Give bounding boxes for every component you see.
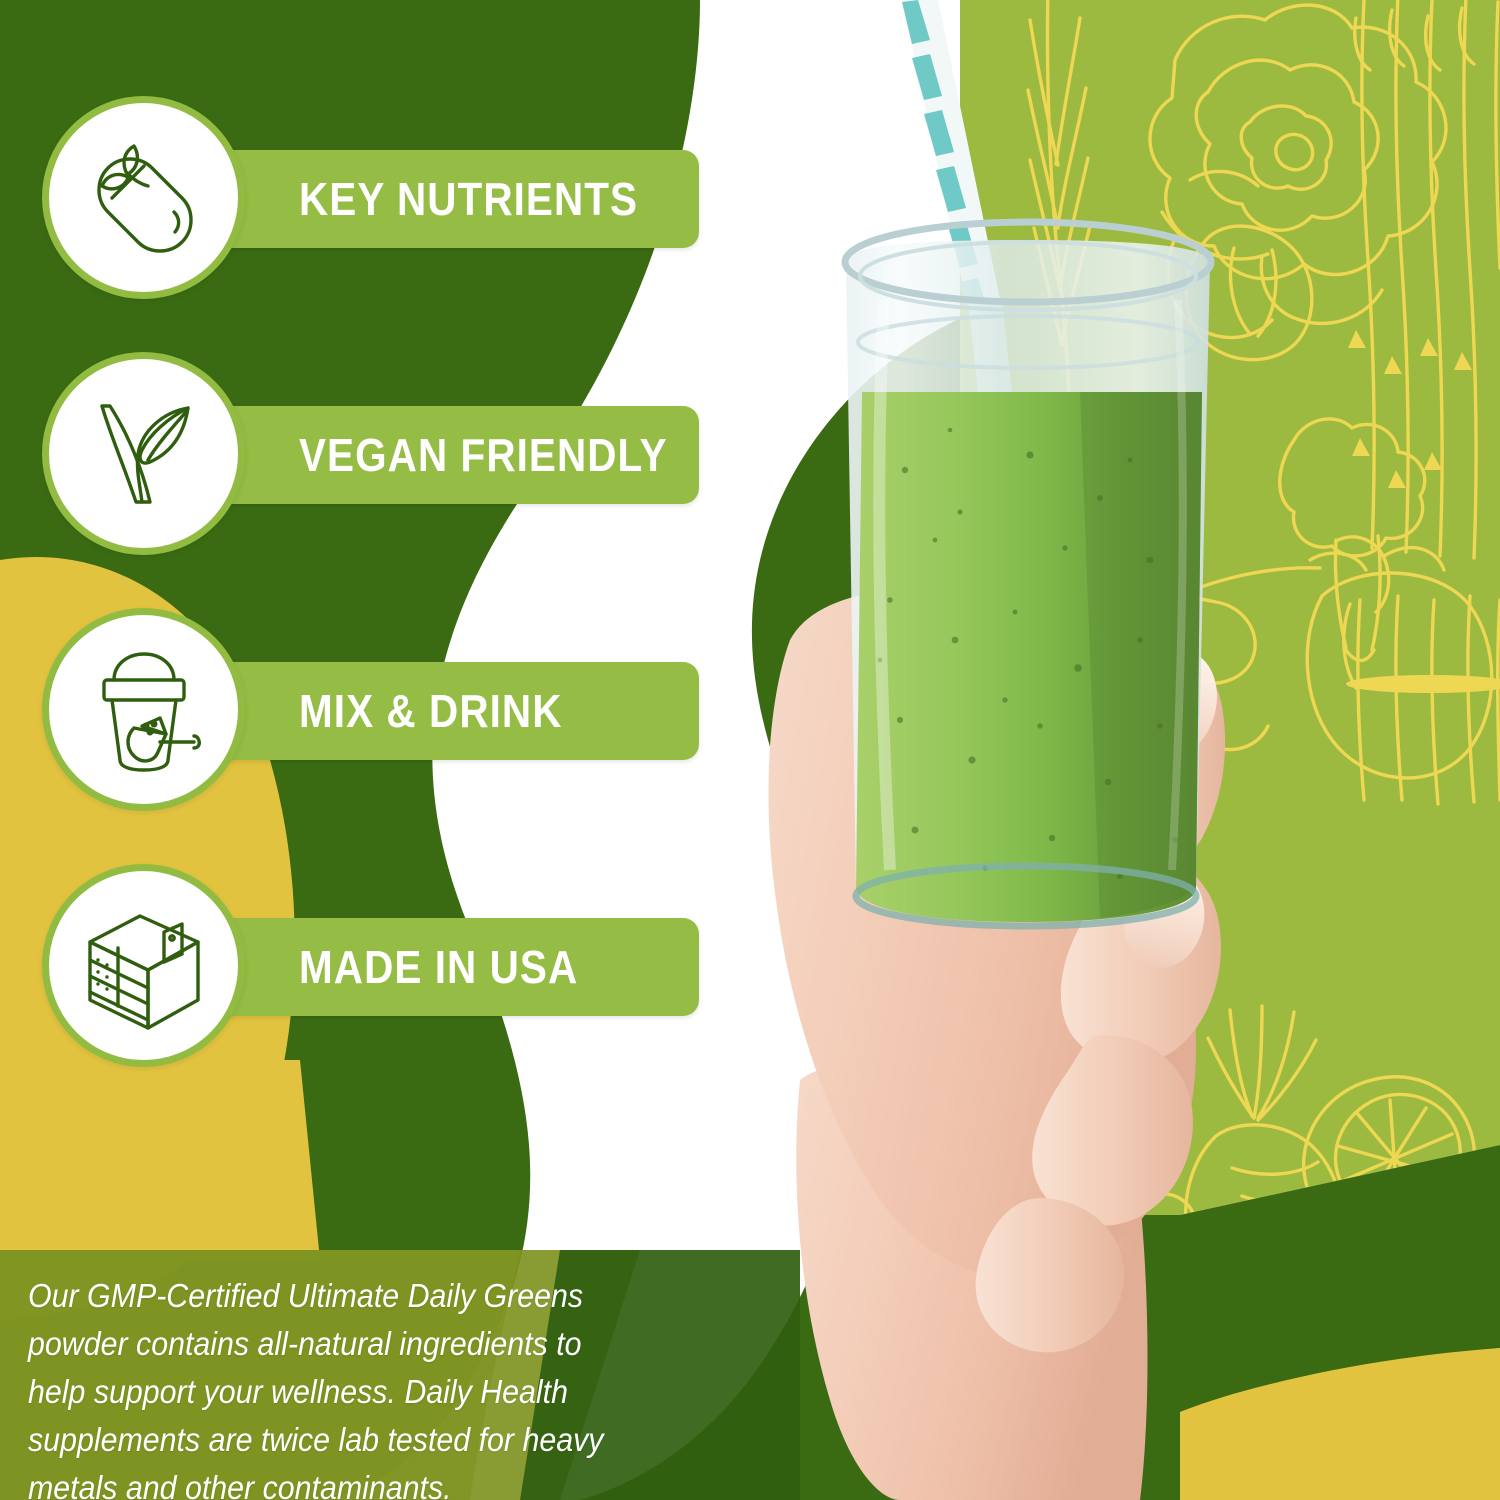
feature-pill-vegan-friendly[interactable]: VEGAN FRIENDLY [187,406,699,504]
shaker-cup-scoop-icon [80,646,208,774]
capsule-sprout-icon [80,134,208,262]
feature-row-vegan-friendly[interactable]: VEGAN FRIENDLY [42,352,662,558]
product-infographic: KEY NUTRIENTS VEGAN FRIENDLY [0,0,1500,1500]
feature-label-vegan-friendly: VEGAN FRIENDLY [299,428,668,482]
feature-row-mix-and-drink[interactable]: MIX & DRINK [42,608,662,814]
feature-icon-circle-made-in-usa[interactable] [42,864,245,1067]
feature-icon-circle-mix-and-drink[interactable] [42,608,245,811]
feature-pill-made-in-usa[interactable]: MADE IN USA [187,918,699,1016]
feature-row-key-nutrients[interactable]: KEY NUTRIENTS [42,96,662,302]
feature-label-made-in-usa: MADE IN USA [299,940,578,994]
leaf-sprout-v-icon [80,390,208,518]
usa-flag-box-icon [80,902,208,1030]
feature-pill-mix-and-drink[interactable]: MIX & DRINK [187,662,699,760]
feature-label-mix-and-drink: MIX & DRINK [299,684,562,738]
feature-pill-key-nutrients[interactable]: KEY NUTRIENTS [187,150,699,248]
feature-icon-circle-key-nutrients[interactable] [42,96,245,299]
feature-label-key-nutrients: KEY NUTRIENTS [299,172,638,226]
feature-row-made-in-usa[interactable]: MADE IN USA [42,864,662,1070]
feature-icon-circle-vegan-friendly[interactable] [42,352,245,555]
description-overlay-right [520,1250,800,1500]
feature-badge-list: KEY NUTRIENTS VEGAN FRIENDLY [0,0,700,1140]
